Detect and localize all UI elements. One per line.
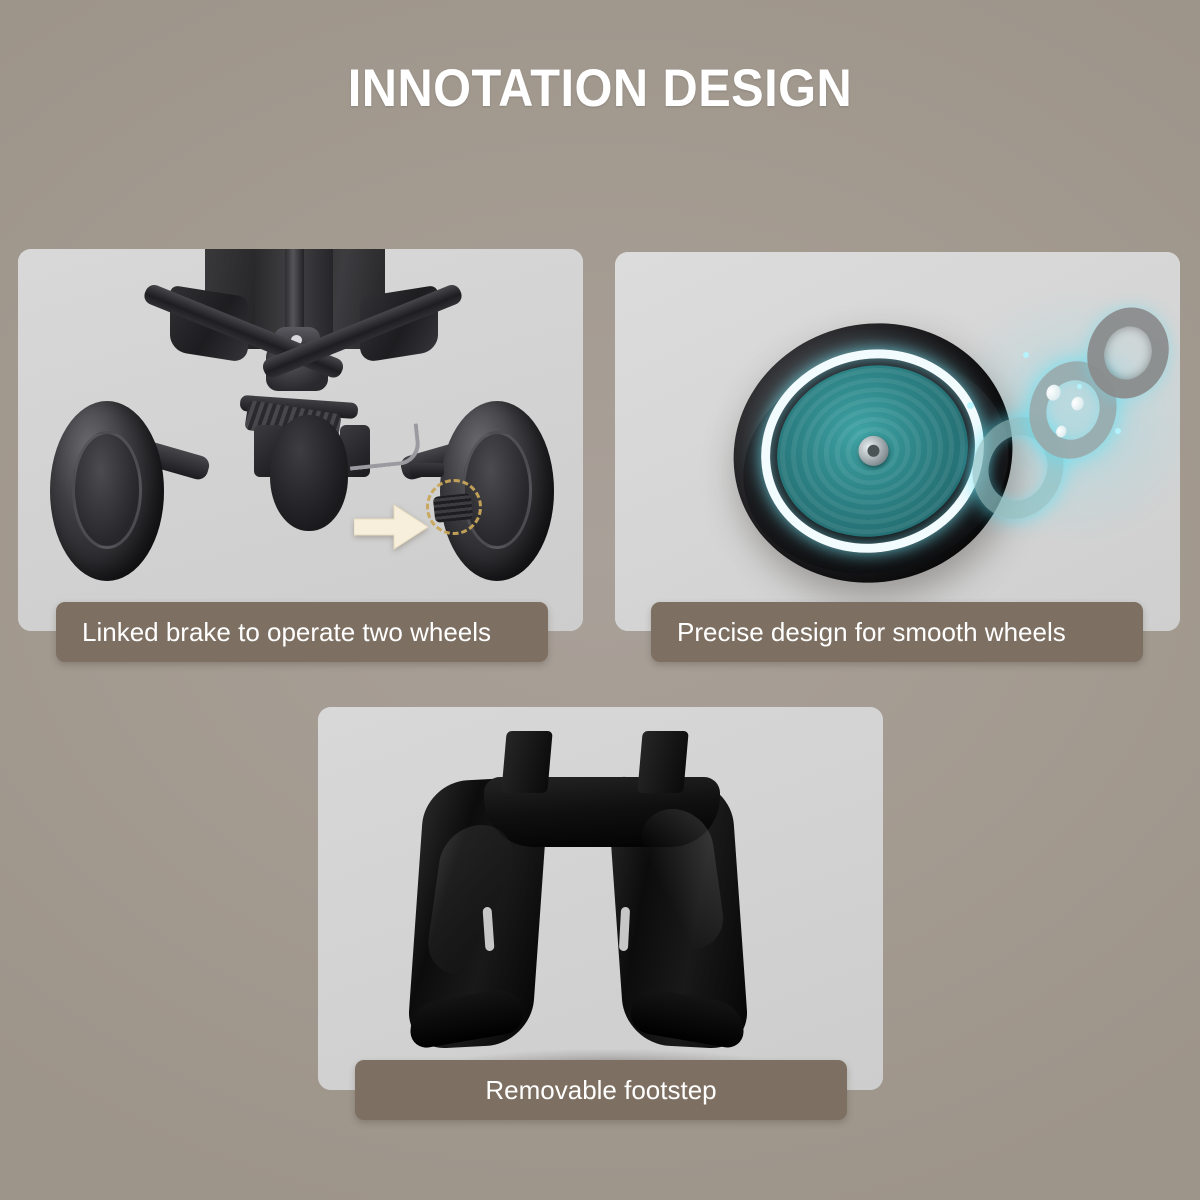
page-title: INNOTATION DESIGN — [48, 58, 1152, 119]
feature-image-precise-wheels — [615, 252, 1180, 631]
mounting-tab-left — [501, 731, 552, 793]
feature-caption-precise-wheels: Precise design for smooth wheels — [651, 602, 1143, 662]
dashed-highlight-circle-icon — [426, 479, 482, 535]
center-caster-wheel — [270, 415, 348, 531]
feature-card-removable-footstep — [318, 707, 883, 1090]
glow-spark-icon — [1023, 352, 1029, 358]
feature-caption-linked-brake: Linked brake to operate two wheels — [56, 602, 548, 662]
caption-text: Linked brake to operate two wheels — [82, 617, 491, 648]
feature-image-removable-footstep — [318, 707, 883, 1090]
product-infographic: INNOTATION DESIGN — [0, 0, 1200, 1200]
glow-spark-icon — [967, 402, 974, 409]
pointer-arrow-icon — [354, 501, 430, 553]
wheel-left — [50, 401, 164, 581]
feature-caption-removable-footstep: Removable footstep — [355, 1060, 847, 1120]
mounting-tab-right — [637, 731, 688, 793]
caption-text: Precise design for smooth wheels — [677, 617, 1066, 648]
feature-card-linked-brake — [18, 249, 583, 631]
glow-spark-icon — [1115, 428, 1121, 434]
footstep-component — [400, 729, 800, 1059]
brake-pad — [410, 463, 444, 477]
caption-text: Removable footstep — [485, 1075, 716, 1106]
rim-left — [72, 431, 142, 549]
feature-image-linked-brake — [18, 249, 583, 631]
feature-card-precise-wheels — [615, 252, 1180, 631]
glow-spark-icon — [1077, 384, 1082, 389]
